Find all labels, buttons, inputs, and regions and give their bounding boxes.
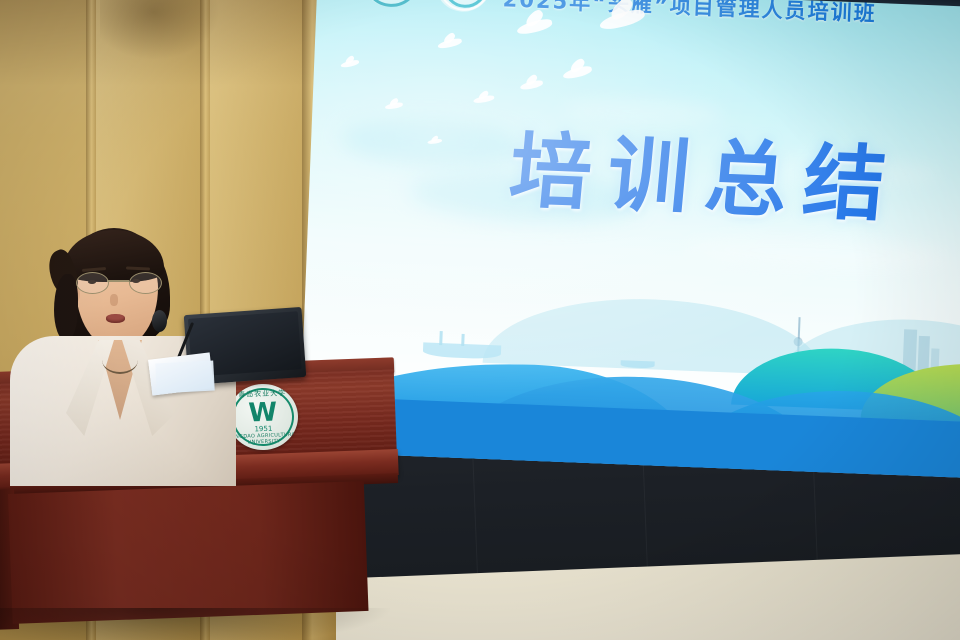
university-seal: 青岛农业大学 W 1951 QINGDAO AGRICULTURAL UNIVE…	[227, 383, 299, 452]
glasses-bridge	[107, 280, 129, 282]
lectern-floor-shadow	[0, 608, 394, 640]
necklace	[102, 346, 138, 374]
eyeglasses	[76, 272, 160, 292]
nose	[110, 294, 118, 306]
seal-english-name: QINGDAO AGRICULTURAL UNIVERSITY	[229, 432, 299, 447]
led-presentation-screen: W 2025年“头雁”项目管理人员培训班 培训总结	[299, 0, 960, 479]
photo-scene: W 2025年“头雁”项目管理人员培训班 培训总结	[0, 0, 960, 640]
microphone-head	[152, 310, 167, 332]
mouth	[106, 314, 125, 323]
screen-glare	[299, 0, 960, 479]
seal-monogram: W	[227, 399, 298, 428]
lens	[76, 272, 109, 294]
wall-smudge	[100, 0, 220, 60]
lens	[129, 272, 162, 294]
lectern-base	[8, 481, 369, 624]
presentation-notes-sheet	[155, 361, 214, 394]
hair-side	[54, 274, 78, 340]
